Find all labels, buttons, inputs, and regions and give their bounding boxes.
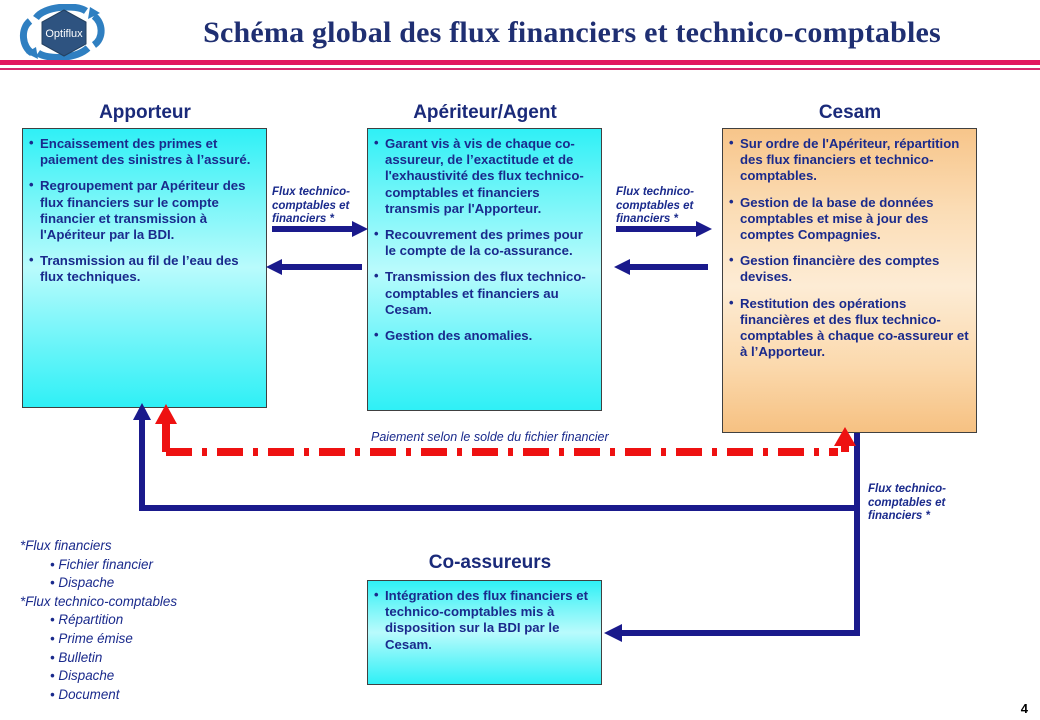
legend-item: • Répartition <box>20 611 270 630</box>
box-apporteur-list: Encaissement des primes et paiement des … <box>29 136 260 286</box>
slide-canvas: Optiflux Schéma global des flux financie… <box>0 0 1040 720</box>
arrow-cesam-to-coassureurs <box>604 508 857 642</box>
connector-label-bottom-right: Flux technico-comptables et financiers * <box>868 483 973 524</box>
legend-heading-financiers: *Flux financiers <box>20 537 270 556</box>
list-item: Transmission au fil de l’eau des flux te… <box>29 253 260 285</box>
box-coassureurs-list: Intégration des flux financiers et techn… <box>374 588 595 653</box>
page-title: Schéma global des flux financiers et tec… <box>112 14 1032 52</box>
legend: *Flux financiers • Fichier financier • D… <box>20 537 270 704</box>
connector-label-right: Flux technico-comptables et financiers * <box>616 186 712 227</box>
legend-item: • Fichier financier <box>20 556 270 575</box>
list-item: Recouvrement des primes pour le compte d… <box>374 227 595 259</box>
list-item: Sur ordre de l'Apériteur, répartition de… <box>729 136 970 185</box>
heading-apporteur: Apporteur <box>20 102 270 124</box>
box-aperiteur[interactable]: Garant vis à vis de chaque co-assureur, … <box>367 128 602 411</box>
arrow-aperiteur-to-apporteur <box>266 259 362 275</box>
legend-item: • Bulletin <box>20 649 270 668</box>
legend-heading-technico: *Flux technico-comptables <box>20 593 270 612</box>
box-cesam[interactable]: Sur ordre de l'Apériteur, répartition de… <box>722 128 977 433</box>
list-item: Garant vis à vis de chaque co-assureur, … <box>374 136 595 217</box>
box-apporteur[interactable]: Encaissement des primes et paiement des … <box>22 128 267 408</box>
legend-item: • Document <box>20 686 270 705</box>
connector-label-left: Flux technico-comptables et financiers * <box>272 186 364 227</box>
legend-item: • Dispache <box>20 574 270 593</box>
list-item: Regroupement par Apériteur des flux fina… <box>29 178 260 243</box>
heading-coassureurs: Co-assureurs <box>365 552 615 574</box>
box-aperiteur-list: Garant vis à vis de chaque co-assureur, … <box>374 136 595 344</box>
list-item: Transmission des flux technico-comptable… <box>374 269 595 318</box>
page-number: 4 <box>1021 701 1028 716</box>
list-item: Gestion financière des comptes devises. <box>729 253 970 285</box>
box-cesam-list: Sur ordre de l'Apériteur, répartition de… <box>729 136 970 360</box>
optiflux-logo: Optiflux <box>14 4 114 62</box>
legend-item: • Prime émise <box>20 630 270 649</box>
arrow-cesam-to-aperiteur <box>614 259 708 275</box>
list-item: Gestion des anomalies. <box>374 328 595 344</box>
heading-aperiteur: Apériteur/Agent <box>365 102 605 124</box>
heading-cesam: Cesam <box>720 102 980 124</box>
payment-flow-label: Paiement selon le solde du fichier finan… <box>371 430 609 444</box>
list-item: Gestion de la base de données comptables… <box>729 195 970 244</box>
list-item: Encaissement des primes et paiement des … <box>29 136 260 168</box>
list-item: Restitution des opérations financières e… <box>729 296 970 361</box>
header-rule-thin <box>0 68 1040 70</box>
box-coassureurs[interactable]: Intégration des flux financiers et techn… <box>367 580 602 685</box>
slide-header: Optiflux Schéma global des flux financie… <box>0 0 1040 62</box>
legend-item: • Dispache <box>20 667 270 686</box>
list-item: Intégration des flux financiers et techn… <box>374 588 595 653</box>
